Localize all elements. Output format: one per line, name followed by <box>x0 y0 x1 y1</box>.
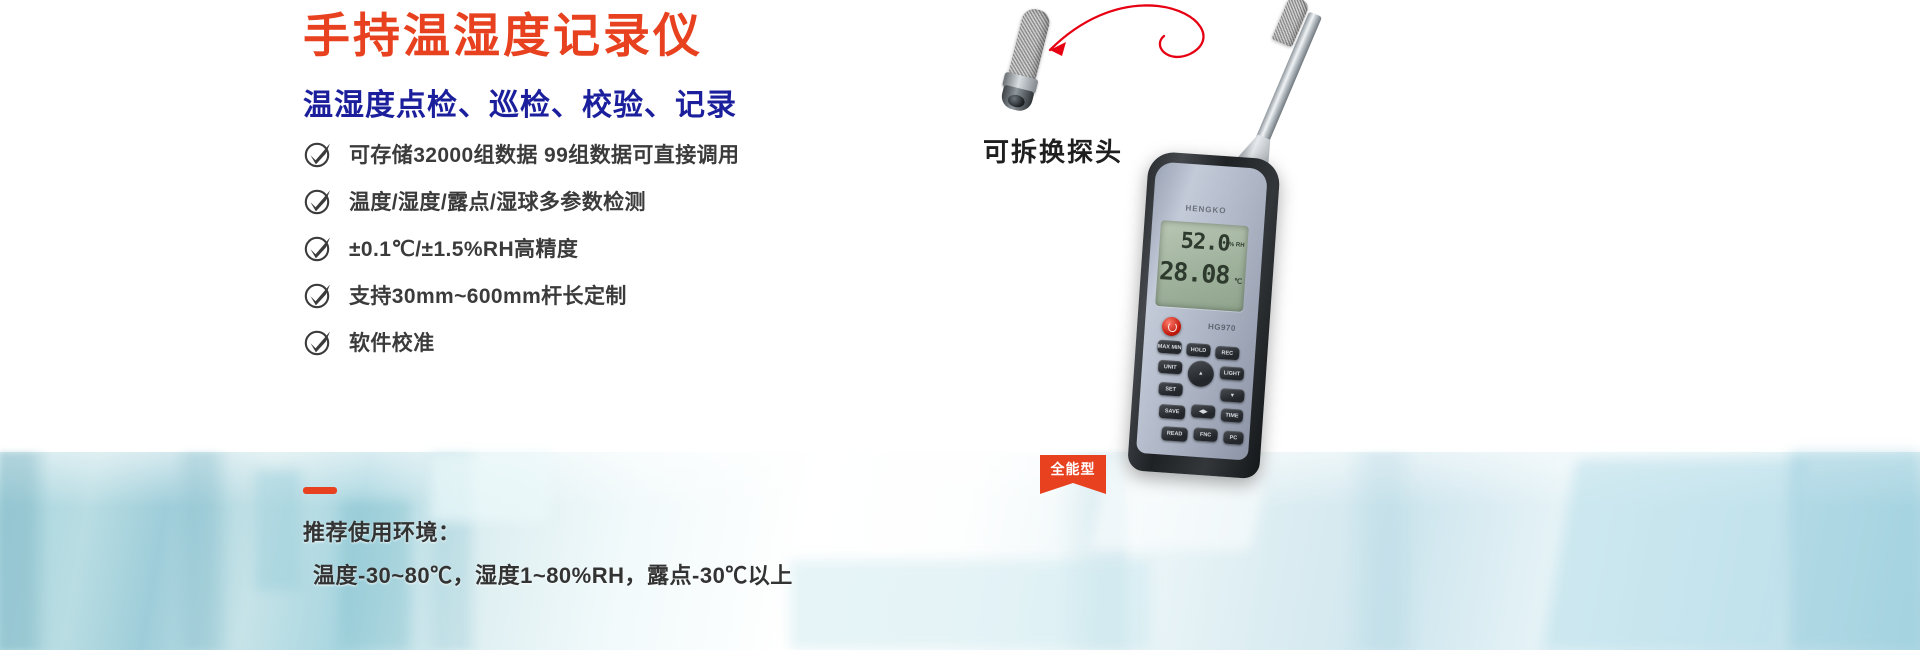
environment-note: 推荐使用环境： 温度-30~80℃，湿度1~80%RH，露点-30℃以上 <box>303 515 793 590</box>
band-decor-shape <box>1790 452 1920 650</box>
temperature-reading: 28.08 <box>1158 258 1230 288</box>
environment-heading: 推荐使用环境： <box>303 515 793 547</box>
check-circle-icon <box>303 139 333 169</box>
device-key[interactable]: ▼ <box>1220 388 1245 403</box>
device-key[interactable]: READ <box>1161 426 1188 442</box>
temperature-unit: ℃ <box>1234 277 1242 286</box>
model-label: HG970 <box>1208 322 1236 333</box>
product-banner: 手持温湿度记录仪 温湿度点检、巡检、校验、记录 可存储32000组数据 99组数… <box>0 0 1920 650</box>
device-key[interactable]: SET <box>1158 382 1183 397</box>
page-title: 手持温湿度记录仪 <box>303 8 703 63</box>
device-key[interactable]: ◀▶ <box>1191 404 1216 419</box>
check-circle-icon <box>303 186 333 216</box>
device-key[interactable]: SAVE <box>1159 404 1186 420</box>
list-item: 温度/湿度/露点/湿球多参数检测 <box>303 177 943 224</box>
device-key[interactable]: PC <box>1223 430 1244 444</box>
feature-label: 可存储32000组数据 99组数据可直接调用 <box>349 139 739 169</box>
device-key-navpad[interactable]: ▲ <box>1187 360 1215 388</box>
device-key[interactable]: FNC <box>1193 427 1218 442</box>
device-key[interactable]: UNIT <box>1158 360 1183 375</box>
check-circle-icon <box>303 327 333 357</box>
check-circle-icon <box>303 233 333 263</box>
band-decor-shape <box>430 452 550 522</box>
device-keypad: MAX MIN HOLD REC UNIT ▲ LIGHT SET ▼ SAVE… <box>1146 337 1262 462</box>
status-badge: 全能型 <box>1040 455 1106 483</box>
device-key[interactable]: LIGHT <box>1220 366 1245 381</box>
list-item: 软件校准 <box>303 318 943 365</box>
device-key[interactable]: MAX MIN <box>1157 340 1182 355</box>
page-subtitle: 温湿度点检、巡检、校验、记录 <box>303 80 737 124</box>
feature-label: ±0.1℃/±1.5%RH高精度 <box>349 233 578 263</box>
lcd-display: 52.0 % RH 28.08 ℃ <box>1155 220 1249 312</box>
environment-detail: 温度-30~80℃，湿度1~80%RH，露点-30℃以上 <box>303 558 793 590</box>
device-key[interactable]: TIME <box>1221 408 1244 423</box>
feature-label: 温度/湿度/露点/湿球多参数检测 <box>349 186 646 216</box>
band-decor-shape <box>1543 460 1807 650</box>
band-decor-shape <box>790 560 1150 650</box>
humidity-unit: % RH <box>1229 242 1245 249</box>
feature-label: 支持30mm~600mm杆长定制 <box>349 280 627 310</box>
device-key[interactable]: REC <box>1215 346 1240 361</box>
list-item: 可存储32000组数据 99组数据可直接调用 <box>303 130 943 177</box>
feature-list: 可存储32000组数据 99组数据可直接调用 温度/湿度/露点/湿球多参数检测 … <box>303 130 943 365</box>
handheld-meter-image: HENGKO 52.0 % RH 28.08 ℃ HG970 MAX MIN H… <box>1058 55 1348 475</box>
list-item: 支持30mm~600mm杆长定制 <box>303 271 943 318</box>
feature-label: 软件校准 <box>349 327 435 357</box>
section-divider-dash <box>303 487 337 494</box>
band-decor-shape <box>255 470 301 590</box>
humidity-reading: 52.0 <box>1180 230 1230 255</box>
list-item: ±0.1℃/±1.5%RH高精度 <box>303 224 943 271</box>
check-circle-icon <box>303 280 333 310</box>
device-key[interactable]: HOLD <box>1186 343 1211 358</box>
